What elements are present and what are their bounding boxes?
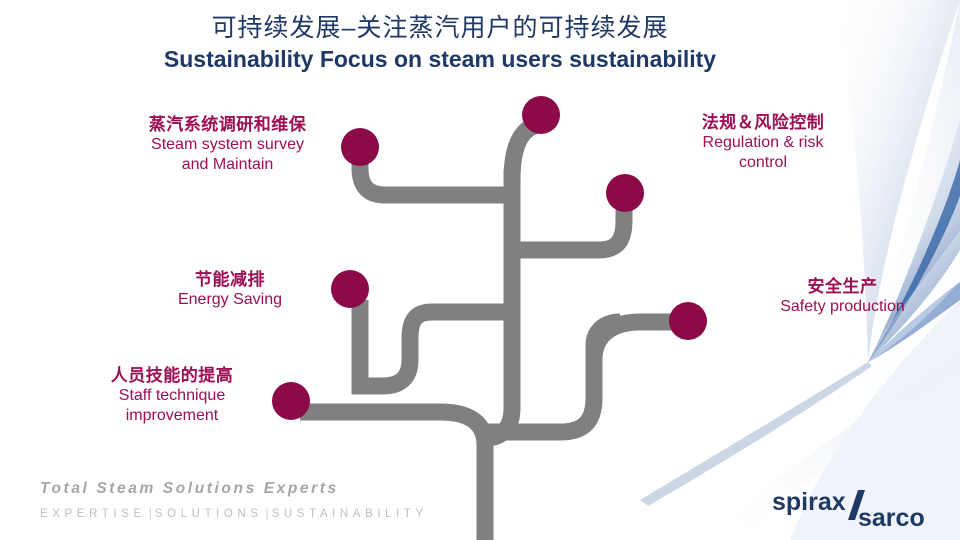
tree-node-steam-survey[interactable]: [341, 128, 379, 166]
label-staff-technique-improvement-en-line2: improvement: [62, 406, 282, 425]
spirax-sarco-logo: spirax sarco: [770, 484, 945, 534]
label-regulation-risk-control-en-line1: Regulation & risk: [668, 133, 858, 152]
label-regulation-risk-control-en-line2: control: [668, 153, 858, 172]
label-safety-production: 安全生产 Safety production: [735, 277, 950, 317]
footer-tagline: Total Steam Solutions Experts: [40, 480, 339, 498]
label-safety-production-en-line1: Safety production: [735, 297, 950, 316]
label-steam-system-survey-en-line1: Steam system survey: [110, 135, 345, 154]
branch-energy: [360, 300, 512, 386]
footer-pillars: EXPERTISE|SOLUTIONS|SUSTAINABILITY: [40, 508, 428, 520]
label-energy-saving: 节能减排 Energy Saving: [130, 270, 330, 310]
label-staff-technique-improvement-cn: 人员技能的提高: [62, 366, 282, 386]
label-staff-technique-improvement: 人员技能的提高 Staff technique improvement: [62, 366, 282, 425]
slide-canvas: 可持续发展–关注蒸汽用户的可持续发展 Sustainability Focus …: [0, 0, 960, 540]
logo-word-sarco: sarco: [858, 504, 925, 532]
tree-node-energy-saving[interactable]: [331, 270, 369, 308]
label-energy-saving-cn: 节能减排: [130, 270, 330, 290]
label-energy-saving-en-line1: Energy Saving: [130, 290, 330, 309]
label-safety-production-cn: 安全生产: [735, 277, 950, 297]
label-steam-system-survey-en-line2: and Maintain: [110, 155, 345, 174]
footer-separator-1: |: [146, 508, 155, 520]
footer-separator-2: |: [263, 508, 272, 520]
branch-regulation: [512, 200, 624, 250]
label-regulation-risk-control: 法规＆风险控制 Regulation & risk control: [668, 113, 858, 172]
tree-node-safety-production[interactable]: [669, 302, 707, 340]
label-steam-system-survey-cn: 蒸汽系统调研和维保: [110, 115, 345, 135]
label-regulation-risk-control-cn: 法规＆风险控制: [668, 113, 858, 133]
label-steam-system-survey: 蒸汽系统调研和维保 Steam system survey and Mainta…: [110, 115, 345, 174]
footer-pillar-sustainability: SUSTAINABILITY: [272, 508, 428, 520]
branch-staff: [300, 412, 485, 445]
logo-word-spirax: spirax: [772, 488, 846, 516]
branch-steam-survey: [360, 152, 512, 195]
tree-node-top-branch[interactable]: [522, 96, 560, 134]
branch-lower-right: [485, 345, 594, 432]
label-staff-technique-improvement-en-line1: Staff technique: [62, 386, 282, 405]
footer-pillar-expertise: EXPERTISE: [40, 508, 146, 520]
tree-node-regulation[interactable]: [606, 174, 644, 212]
footer-pillar-solutions: SOLUTIONS: [155, 508, 263, 520]
